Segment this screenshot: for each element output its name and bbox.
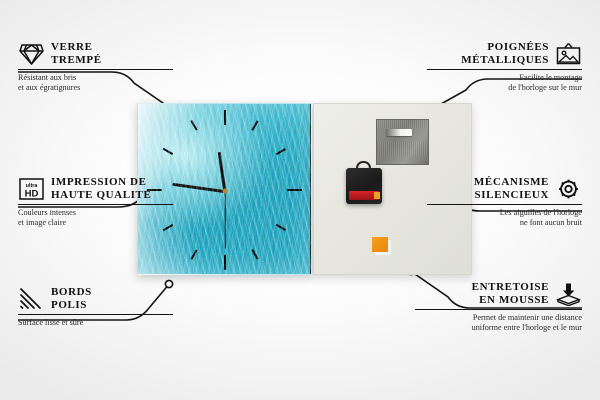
feature-subtitle-2: uniforme entre l'horloge et le mur — [415, 323, 582, 333]
tick-1 — [251, 120, 258, 130]
feature-title: BORDS POLIS — [51, 286, 92, 311]
feature-subtitle-2: et aux égratignures — [18, 83, 173, 93]
feature-title: VERRE TREMPÉ — [51, 41, 102, 66]
tick-7 — [190, 249, 197, 259]
feature-header: ENTRETOISE EN MOUSSE — [415, 281, 582, 306]
second-hand — [224, 191, 225, 249]
feature-title: IMPRESSION DE HAUTE QUALITÉ — [51, 176, 151, 201]
feature-subtitle-1: Permet de maintenir une distance — [415, 313, 582, 323]
feature-entretoise-en-mousse: ENTRETOISE EN MOUSSE Permet de maintenir… — [415, 281, 582, 333]
tick-3 — [287, 189, 302, 191]
gear-icon — [555, 177, 582, 201]
clock-mechanism — [346, 168, 382, 204]
feature-title: ENTRETOISE EN MOUSSE — [472, 281, 549, 306]
feature-impression-hd: ultra HD IMPRESSION DE HAUTE QUALITÉ Cou… — [18, 176, 173, 228]
picture-frame-hanger-icon — [555, 42, 582, 66]
foam-spacer — [372, 237, 388, 252]
tick-6 — [224, 255, 226, 270]
feature-subtitle-2: et image claire — [18, 218, 173, 228]
divider — [427, 204, 582, 205]
tick-4 — [276, 224, 286, 231]
feature-header: ultra HD IMPRESSION DE HAUTE QUALITÉ — [18, 176, 173, 201]
divider — [18, 69, 173, 70]
tick-10 — [163, 148, 173, 155]
diamond-icon — [18, 42, 45, 66]
battery-terminal — [374, 192, 380, 199]
feature-subtitle-1: Couleurs intenses — [18, 208, 173, 218]
tick-12 — [224, 110, 226, 125]
divider — [18, 204, 173, 205]
feature-poignees-metalliques: POIGNÉES MÉTALLIQUES Facilite le montage… — [427, 41, 582, 93]
feature-title: MÉCANISME SILENCIEUX — [474, 176, 549, 201]
svg-text:HD: HD — [25, 188, 39, 199]
tick-2 — [276, 148, 286, 155]
diagonal-lines-icon — [18, 287, 45, 311]
tick-11 — [190, 120, 197, 130]
feature-title: POIGNÉES MÉTALLIQUES — [461, 41, 549, 66]
clock-hub — [223, 189, 228, 194]
feature-subtitle-1: Facilite le montage — [427, 73, 582, 83]
infographic-canvas: VERRE TREMPÉ Résistant aux bris et aux é… — [0, 0, 600, 400]
divider — [18, 314, 173, 315]
hanger-slot — [386, 129, 412, 136]
feature-verre-trempe: VERRE TREMPÉ Résistant aux bris et aux é… — [18, 41, 173, 93]
feature-subtitle-2: ne font aucun bruit — [427, 218, 582, 228]
feature-subtitle-2: de l'horloge sur le mur — [427, 83, 582, 93]
feature-header: BORDS POLIS — [18, 286, 173, 311]
feature-header: POIGNÉES MÉTALLIQUES — [427, 41, 582, 66]
feature-bords-polis: BORDS POLIS Surface lisse et sûre — [18, 286, 173, 328]
ultra-hd-icon: ultra HD — [18, 177, 45, 201]
product-image — [137, 103, 472, 275]
feature-subtitle-1: Les aiguilles de l'horloge — [427, 208, 582, 218]
feature-header: MÉCANISME SILENCIEUX — [427, 176, 582, 201]
minute-hand — [172, 182, 225, 193]
feature-header: VERRE TREMPÉ — [18, 41, 173, 66]
feature-subtitle-1: Surface lisse et sûre — [18, 318, 173, 328]
mechanism-hanging-loop — [356, 161, 371, 170]
feature-subtitle-1: Résistant aux bris — [18, 73, 173, 83]
feature-mecanisme-silencieux: MÉCANISME SILENCIEUX Les aiguilles de l'… — [427, 176, 582, 228]
divider — [415, 309, 582, 310]
metal-hanger-plate — [376, 119, 429, 165]
panel-edge — [310, 104, 312, 275]
arrow-down-pad-icon — [555, 282, 582, 306]
divider — [427, 69, 582, 70]
hour-hand — [218, 151, 227, 191]
tick-5 — [251, 249, 258, 259]
